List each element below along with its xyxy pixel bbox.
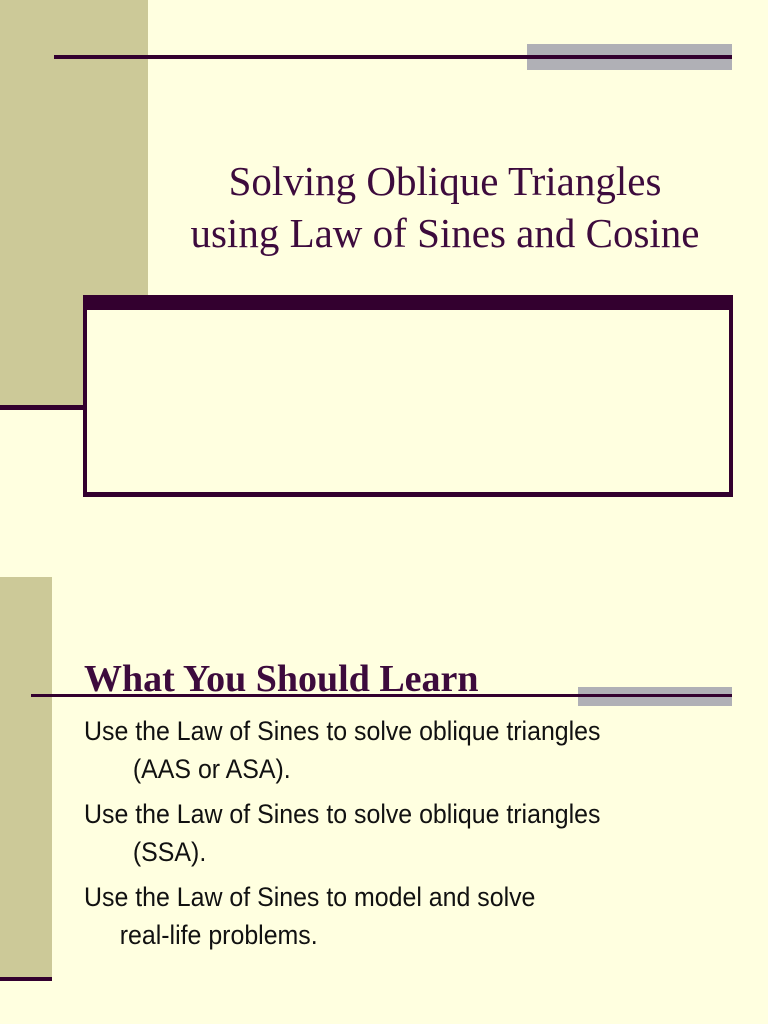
- olive-accent-block-bottom: [0, 577, 52, 977]
- list-item-line-2: (SSA).: [84, 833, 686, 871]
- slide-title-line-1: Solving Oblique Triangles: [155, 155, 735, 207]
- list-item-line-2: real-life problems.: [84, 916, 686, 954]
- slide-title: Solving Oblique Triangles using Law of S…: [155, 155, 735, 259]
- list-item-line-2: (AAS or ASA).: [84, 750, 686, 788]
- list-item: Use the Law of Sines to solve oblique tr…: [84, 795, 686, 871]
- presentation-page: Solving Oblique Triangles using Law of S…: [0, 0, 768, 1024]
- slide-title-line-2: using Law of Sines and Cosine: [155, 207, 735, 259]
- content-placeholder-box-text: [87, 310, 729, 492]
- list-item-line-1: Use the Law of Sines to solve oblique tr…: [84, 716, 601, 746]
- olive-accent-underline-top: [0, 405, 84, 410]
- title-slide: Solving Oblique Triangles using Law of S…: [0, 0, 768, 576]
- list-item: Use the Law of Sines to solve oblique tr…: [84, 712, 686, 788]
- objectives-list: Use the Law of Sines to solve oblique tr…: [84, 712, 724, 961]
- list-item-line-1: Use the Law of Sines to solve oblique tr…: [84, 799, 601, 829]
- list-item: Use the Law of Sines to model and solve …: [84, 878, 686, 954]
- list-item-line-1: Use the Law of Sines to model and solve: [84, 882, 535, 912]
- horizontal-rule-bottom: [31, 694, 732, 697]
- olive-accent-underline-bottom: [0, 977, 52, 981]
- content-placeholder-box[interactable]: [83, 295, 733, 497]
- horizontal-rule-top: [54, 55, 732, 59]
- objectives-slide: What You Should Learn Use the Law of Sin…: [0, 576, 768, 1024]
